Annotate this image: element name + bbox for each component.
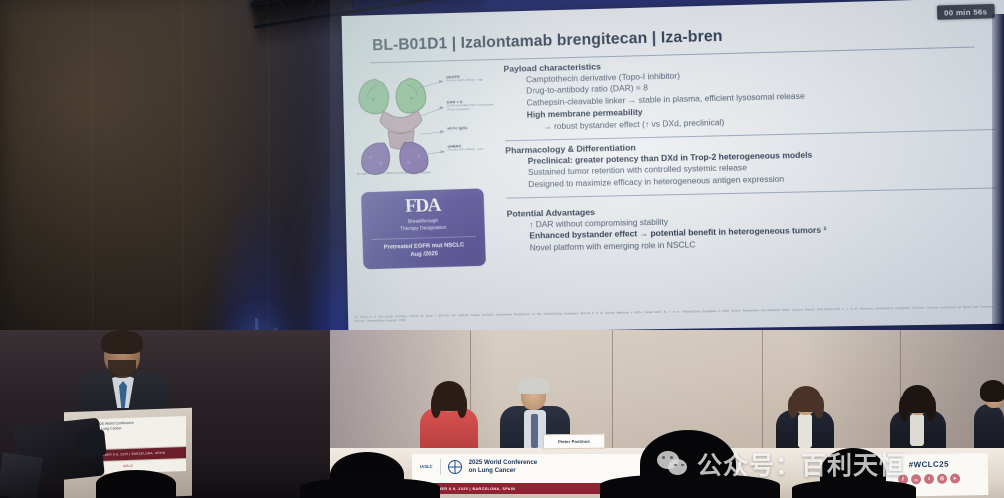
label-fc-igg1: wt Fc IgG1 xyxy=(447,125,467,131)
youtube-icon[interactable]: ▸ xyxy=(950,473,960,483)
conference-title: 2025 World Conference on Lung Cancer xyxy=(469,459,538,475)
projection-screen: 00 min 56s BL-B01D1 | Izalontamab brengi… xyxy=(342,0,1004,334)
hashtag-text: #WCLC25 xyxy=(870,459,988,470)
adc-molecule-svg xyxy=(351,68,504,176)
slide-references: Xu, Tianqi et al. The Lancet Oncology, V… xyxy=(354,305,1004,324)
label-aher3: αHER3 Human scFv affinity : Low xyxy=(448,143,484,153)
fda-divider xyxy=(371,235,475,239)
instagram-icon[interactable]: ◎ xyxy=(937,474,947,484)
presentation-slide: 00 min 56s BL-B01D1 | Izalontamab brengi… xyxy=(342,0,1004,334)
fda-logo: FDA xyxy=(361,194,484,217)
name-placard: Pieter Postmus xyxy=(543,434,605,450)
slide-title: BL-B01D1 | Izalontamab brengitecan | Iza… xyxy=(372,21,983,56)
speaker-beard xyxy=(108,360,136,378)
antibody-structure-diagram: αEGFR Human Fab'b affinity : high DAR = … xyxy=(351,68,504,184)
linkedin-icon[interactable]: in xyxy=(911,474,921,484)
iaslc-logo: IASLC xyxy=(420,464,433,469)
section-payload-characteristics: Payload characteristics Camptothecin der… xyxy=(503,51,997,148)
backdrop-seam xyxy=(762,330,763,460)
audience-shoulders xyxy=(300,478,440,498)
session-timer-badge: 00 min 56s xyxy=(937,4,995,20)
screen-right-edge xyxy=(992,14,1004,344)
label-aegfr: αEGFR Human Fab'b affinity : high xyxy=(446,73,483,83)
globe-icon xyxy=(448,460,462,474)
banner-divider xyxy=(440,459,441,475)
conference-photo: 00 min 56s BL-B01D1 | Izalontamab brengi… xyxy=(0,0,1004,498)
fda-designation-text: Breakthrough Therapy Designation xyxy=(362,217,485,235)
camera-mount xyxy=(0,452,43,498)
audience-shoulders xyxy=(792,480,916,498)
audience-shoulders xyxy=(600,474,780,498)
section-potential-advantages: Potential Advantages ↑ DAR without compr… xyxy=(507,199,1000,255)
backdrop-seam xyxy=(612,330,613,460)
audience-head xyxy=(96,470,176,498)
label-dar: DAR = 8 Cat B cleavable linker Ed payloa… xyxy=(447,98,503,112)
speaker-hair xyxy=(101,330,143,354)
fda-breakthrough-badge: FDA Breakthrough Therapy Designation Pre… xyxy=(361,188,486,269)
twitter-icon[interactable]: t xyxy=(924,474,934,484)
section-pharmacology-differentiation: Pharmacology & Differentiation Preclinic… xyxy=(505,134,999,206)
